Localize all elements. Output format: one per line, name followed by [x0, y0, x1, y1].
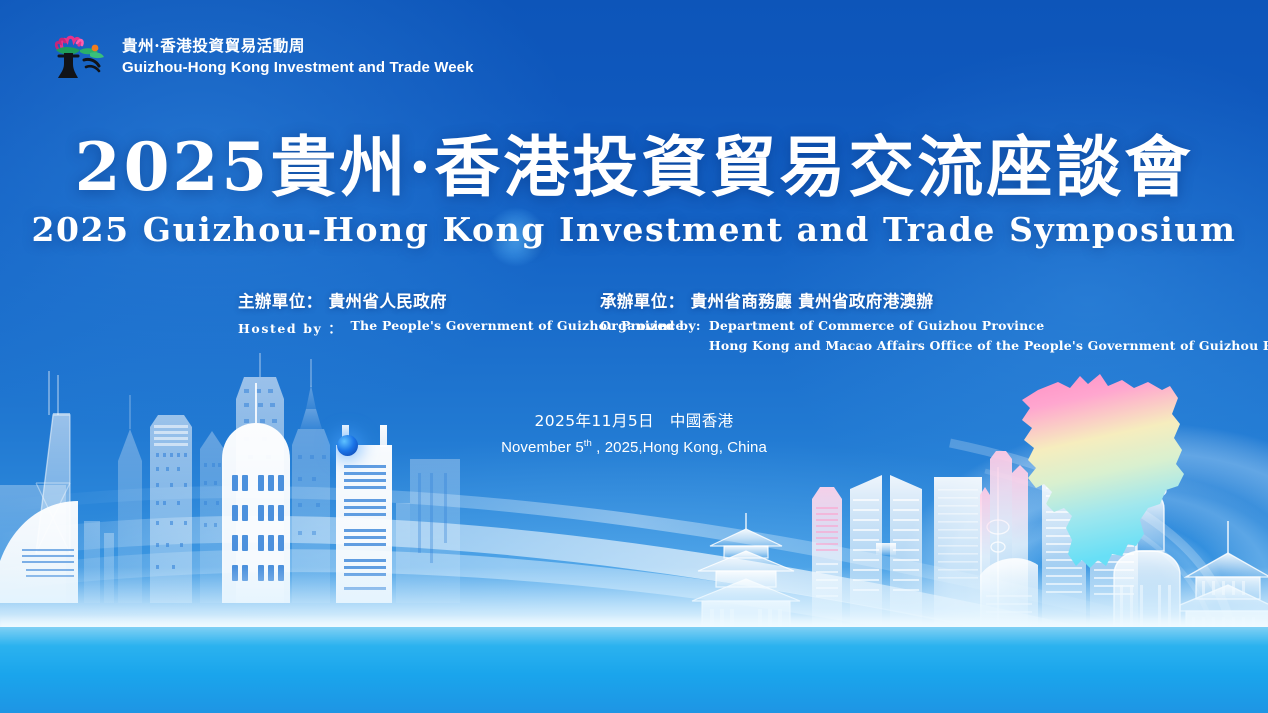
organizer-value-1: Hong Kong and Macao Affairs Office of th… — [709, 338, 1268, 353]
organizer-value-0: Department of Commerce of Guizhou Provin… — [709, 318, 1268, 333]
poster-canvas: 貴州·香港投資貿易活動周 Guizhou-Hong Kong Investmen… — [0, 0, 1268, 713]
event-datetime-block: 2025年11月5日 中國香港 November 5th , 2025,Hong… — [0, 409, 1268, 456]
organizer-title-cn: 承辦單位： 貴州省商務廳 貴州省政府港澳辦 — [600, 288, 1268, 312]
page-title: 2025貴州·香港投資貿易交流座談會 — [0, 133, 1268, 202]
event-brand-header: 貴州·香港投資貿易活動周 Guizhou-Hong Kong Investmen… — [46, 32, 474, 82]
event-date-ordinal: th — [584, 438, 592, 449]
organizer-organization: 承辦單位： 貴州省商務廳 貴州省政府港澳辦 Organized by: Depa… — [600, 288, 1268, 353]
event-date-en: November 5th , 2025,Hong Kong, China — [0, 438, 1268, 456]
water-band — [0, 627, 1268, 713]
guizhou-province-map-icon — [1010, 368, 1195, 593]
organizer-label-en: Organized by: — [600, 318, 701, 353]
organizer-en-row: Organized by: Department of Commerce of … — [600, 318, 1268, 353]
organizer-values: Department of Commerce of Guizhou Provin… — [709, 318, 1268, 353]
poster-title-block: 2025貴州·香港投資貿易交流座談會 2025 Guizhou-Hong Kon… — [0, 133, 1268, 249]
event-date-en-prefix: November 5 — [501, 439, 584, 456]
horizon-haze — [0, 567, 1268, 627]
guizhou-hongkong-event-logo-icon — [46, 32, 108, 82]
page-subtitle: 2025 Guizhou-Hong Kong Investment and Tr… — [0, 210, 1268, 249]
brand-text: 貴州·香港投資貿易活動周 Guizhou-Hong Kong Investmen… — [122, 37, 474, 77]
host-label-en: Hosted by ： — [238, 318, 342, 337]
event-date-cn: 2025年11月5日 中國香港 — [0, 409, 1268, 431]
event-date-en-suffix: , 2025,Hong Kong, China — [592, 439, 767, 456]
brand-title-en: Guizhou-Hong Kong Investment and Trade W… — [122, 59, 474, 77]
brand-title-cn: 貴州·香港投資貿易活動周 — [122, 37, 474, 56]
